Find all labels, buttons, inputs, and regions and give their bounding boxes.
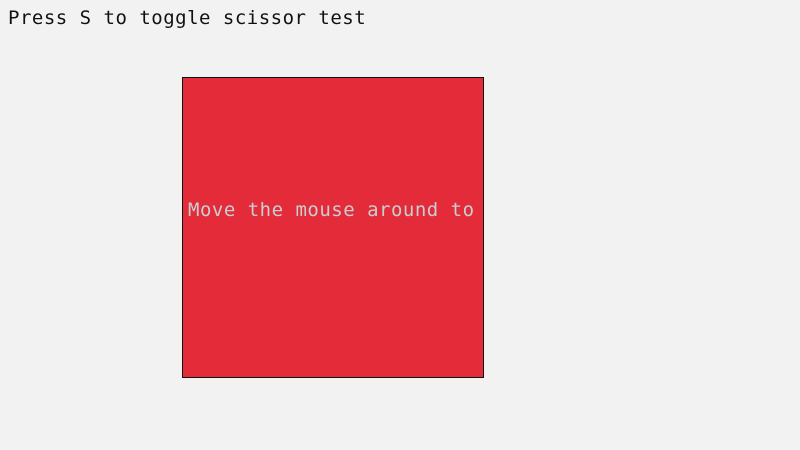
scissor-clipped-message: Move the mouse around to r — [188, 199, 484, 221]
app-canvas: Press S to toggle scissor test Move the … — [0, 0, 800, 450]
page-title: Press S to toggle scissor test — [8, 6, 366, 30]
scissor-test-rectangle[interactable]: Move the mouse around to r — [182, 77, 484, 378]
